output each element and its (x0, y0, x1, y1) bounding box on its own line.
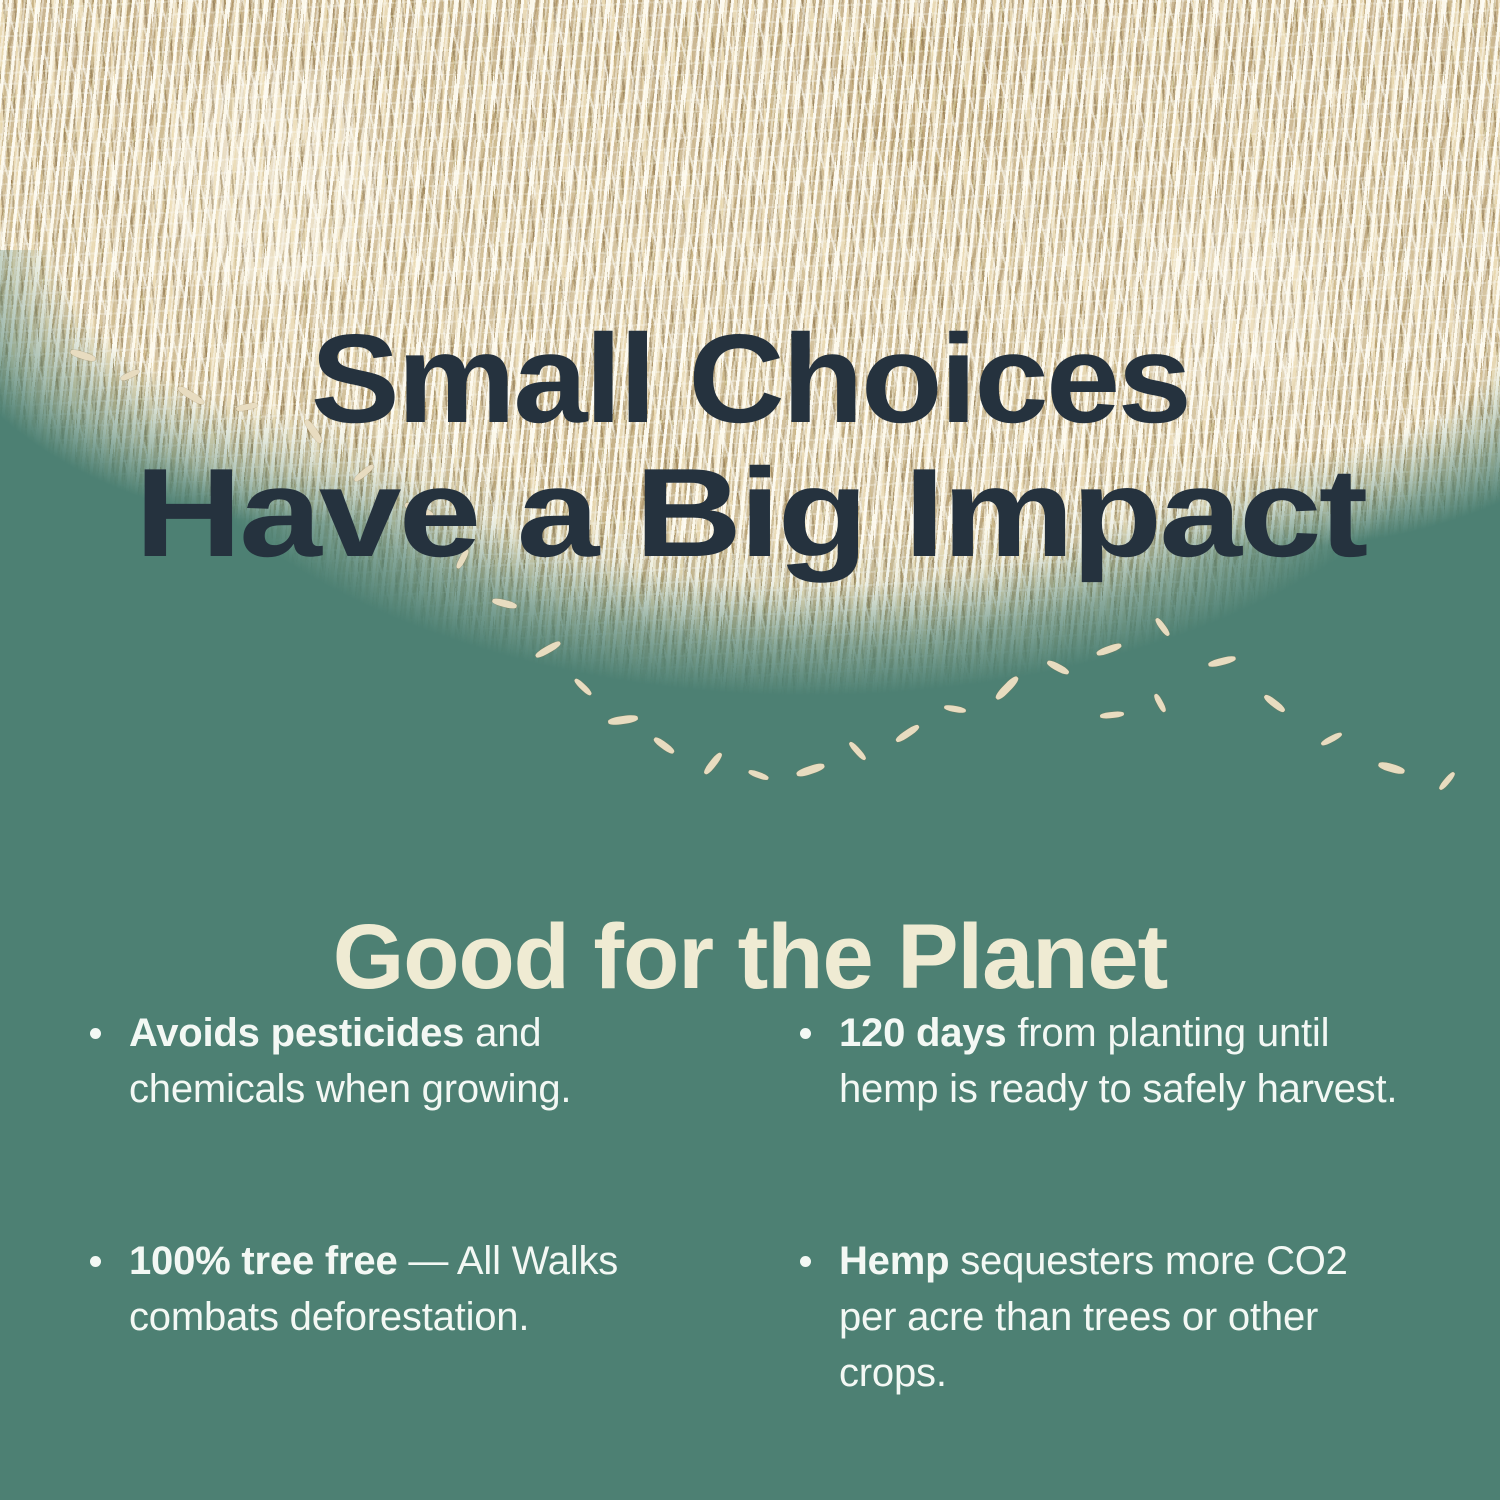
bullet-lead: 100% tree free (129, 1239, 398, 1283)
bullet-lead: Avoids pesticides (129, 1011, 464, 1055)
section-subtitle: Good for the Planet (0, 905, 1500, 1009)
bullet-lead: 120 days (839, 1011, 1006, 1055)
list-item: 120 days from planting until hemp is rea… (796, 1005, 1399, 1233)
headline-line-2: Have a Big Impact (0, 446, 1500, 580)
bullet-dot-icon (800, 1256, 811, 1267)
bullet-dot-icon (800, 1028, 811, 1039)
benefits-list: Avoids pesticides and chemicals when gro… (0, 1005, 1500, 1445)
page-title: Small Choices Have a Big Impact (0, 312, 1500, 580)
bullet-lead: Hemp (839, 1239, 949, 1283)
poster-canvas: Small Choices Have a Big Impact Good for… (0, 0, 1500, 1500)
headline-line-1: Small Choices (0, 312, 1500, 446)
list-item: Hemp sequesters more CO2 per acre than t… (796, 1233, 1399, 1445)
bullet-dot-icon (90, 1256, 101, 1267)
list-item: 100% tree free — All Walks combats defor… (86, 1233, 689, 1445)
bullet-dot-icon (90, 1028, 101, 1039)
list-item: Avoids pesticides and chemicals when gro… (86, 1005, 689, 1233)
